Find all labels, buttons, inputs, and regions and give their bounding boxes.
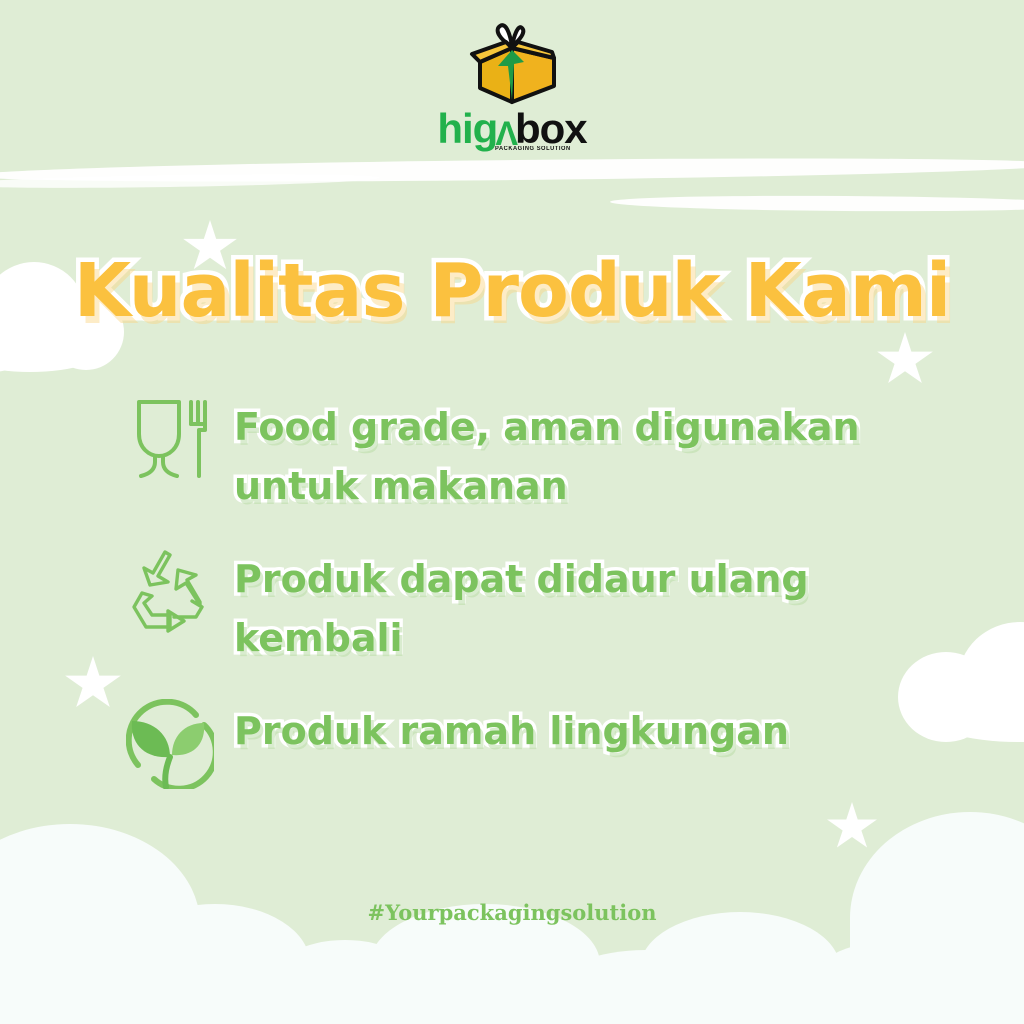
brand-tagline: PACKAGING SOLUTION	[495, 146, 571, 152]
cloud-streak-icon	[0, 154, 1024, 185]
brand-wordmark: higΛbox	[437, 108, 586, 150]
star-icon	[876, 332, 934, 388]
page-title: Kualitas Produk Kami	[0, 248, 1024, 334]
feature-label: Produk dapat didaur ulang kembali	[216, 544, 974, 668]
feature-list: Food grade, aman digunakan untuk makanan…	[124, 392, 984, 820]
glass-and-fork-icon	[124, 392, 216, 492]
list-item: Produk ramah lingkungan	[124, 696, 984, 792]
brand-name-part1: hig	[437, 108, 497, 150]
list-item: Produk dapat didaur ulang kembali	[124, 544, 984, 668]
feature-label: Food grade, aman digunakan untuk makanan	[216, 392, 974, 516]
footer-hashtag: #Yourpackagingsolution	[0, 900, 1024, 925]
feature-label: Produk ramah lingkungan	[216, 696, 789, 761]
eco-leaf-icon	[124, 696, 216, 792]
recycle-icon	[124, 544, 216, 640]
list-item: Food grade, aman digunakan untuk makanan	[124, 392, 984, 516]
gift-box-icon	[466, 22, 558, 106]
poster-canvas: higΛbox PACKAGING SOLUTION Kualitas Prod…	[0, 0, 1024, 1024]
cloud-streak-icon	[0, 172, 380, 191]
star-icon	[64, 656, 122, 712]
cloud-streak-icon	[610, 194, 1024, 212]
brand-logo: higΛbox PACKAGING SOLUTION	[0, 22, 1024, 152]
brand-name-part2: box	[515, 108, 587, 150]
